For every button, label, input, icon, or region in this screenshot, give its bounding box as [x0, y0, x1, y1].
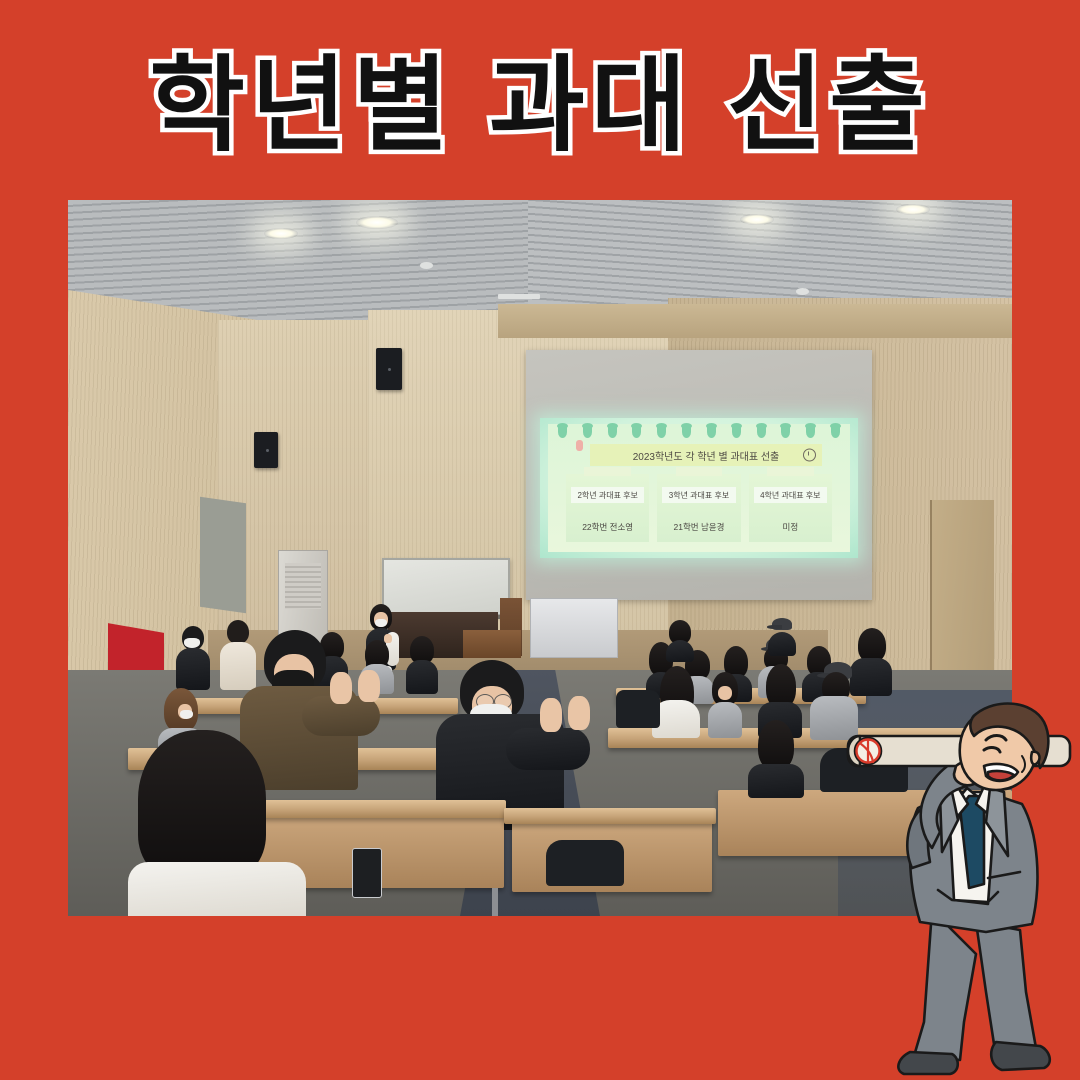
column-tab — [767, 467, 814, 476]
cabinet — [530, 598, 618, 658]
whiteboard — [382, 558, 510, 616]
face — [718, 686, 732, 700]
ring-icon — [831, 426, 840, 438]
ring-icon — [707, 426, 716, 438]
sleeve — [506, 728, 590, 770]
smoke-detector — [796, 288, 809, 295]
torso — [768, 632, 796, 656]
person-student-foreground — [128, 730, 308, 916]
column-heading: 3학년 과대표 후보 — [662, 487, 735, 503]
ceiling-vent — [498, 294, 540, 299]
ceiling-light — [896, 204, 930, 215]
ceiling-light — [740, 214, 774, 225]
column-heading: 4학년 과대표 후보 — [754, 487, 827, 503]
column-candidate: 21학번 남윤경 — [657, 521, 740, 533]
slide-column: 3학년 과대표 후보 21학번 남윤경 — [657, 474, 740, 542]
hair — [858, 628, 886, 662]
torso — [176, 648, 210, 690]
person-student — [176, 626, 210, 688]
desk-leg — [492, 888, 498, 916]
column-tab — [584, 467, 631, 476]
torso — [128, 862, 306, 916]
ring-icon — [583, 426, 592, 438]
slide-column: 4학년 과대표 후보 미정 — [749, 474, 832, 542]
backpack — [616, 690, 660, 728]
clock-icon — [803, 449, 816, 462]
slide-columns: 2학년 과대표 후보 22학번 전소영 3학년 과대표 후보 21학번 남윤경 … — [566, 474, 832, 542]
projected-slide: 2023학년도 각 학년 별 과대표 선출 2학년 과대표 후보 22학번 전소… — [540, 418, 858, 558]
smartphone[interactable] — [352, 848, 382, 898]
slide-column: 2학년 과대표 후보 22학번 전소영 — [566, 474, 649, 542]
slide-page: 2023학년도 각 학년 별 과대표 선출 2학년 과대표 후보 22학번 전소… — [548, 424, 850, 552]
person-student — [748, 720, 804, 796]
ceiling-light — [264, 228, 298, 239]
ring-icon — [682, 426, 691, 438]
jacket-on-desk — [546, 840, 624, 886]
pushpin-icon — [576, 440, 583, 451]
person-student — [708, 672, 742, 736]
torso — [666, 640, 694, 662]
ring-icon — [632, 426, 641, 438]
ceiling-beam — [498, 304, 1012, 338]
acoustic-panel — [200, 497, 246, 613]
ring-icon — [558, 426, 567, 438]
ring-icon — [608, 426, 617, 438]
hand-peace-sign — [330, 672, 352, 704]
ring-icon — [657, 426, 666, 438]
ring-icon — [732, 426, 741, 438]
ring-icon — [806, 426, 815, 438]
hair — [758, 720, 794, 770]
speaker-icon — [376, 348, 402, 390]
slide-header-band: 2023학년도 각 학년 별 과대표 선출 — [590, 444, 822, 466]
ceiling-light — [356, 216, 398, 229]
wooden-table — [463, 630, 521, 658]
face-mask — [375, 619, 387, 627]
column-heading: 2학년 과대표 후보 — [571, 487, 644, 503]
speaker-icon — [254, 432, 278, 468]
ring-icon — [781, 426, 790, 438]
hand-peace-sign — [568, 696, 590, 730]
projection-screen: 2023학년도 각 학년 별 과대표 선출 2학년 과대표 후보 22학번 전소… — [526, 350, 872, 600]
person-student — [666, 620, 694, 660]
torso — [406, 660, 438, 694]
cap — [772, 618, 792, 630]
desk-row-front — [504, 808, 716, 824]
column-candidate: 미정 — [749, 521, 832, 533]
person-student — [768, 618, 796, 656]
poster-canvas: 학년별 과대 선출 — [0, 0, 1080, 1080]
smoke-detector — [420, 262, 433, 269]
hand-peace-sign — [358, 670, 380, 702]
hair — [138, 730, 266, 880]
slide-header-text: 2023학년도 각 학년 별 과대표 선출 — [633, 448, 780, 463]
face-mask — [180, 710, 193, 719]
torso — [708, 702, 742, 738]
torso — [748, 764, 804, 798]
cartoon-graduate-character — [836, 692, 1080, 1080]
column-tab — [676, 467, 723, 476]
person-student — [406, 636, 438, 692]
face-mask — [184, 638, 200, 648]
column-candidate: 22학번 전소영 — [566, 521, 649, 533]
ring-icon — [757, 426, 766, 438]
notebook-rings — [558, 426, 840, 440]
page-title: 학년별 과대 선출 — [0, 48, 1080, 164]
hand-peace-sign — [540, 698, 562, 732]
